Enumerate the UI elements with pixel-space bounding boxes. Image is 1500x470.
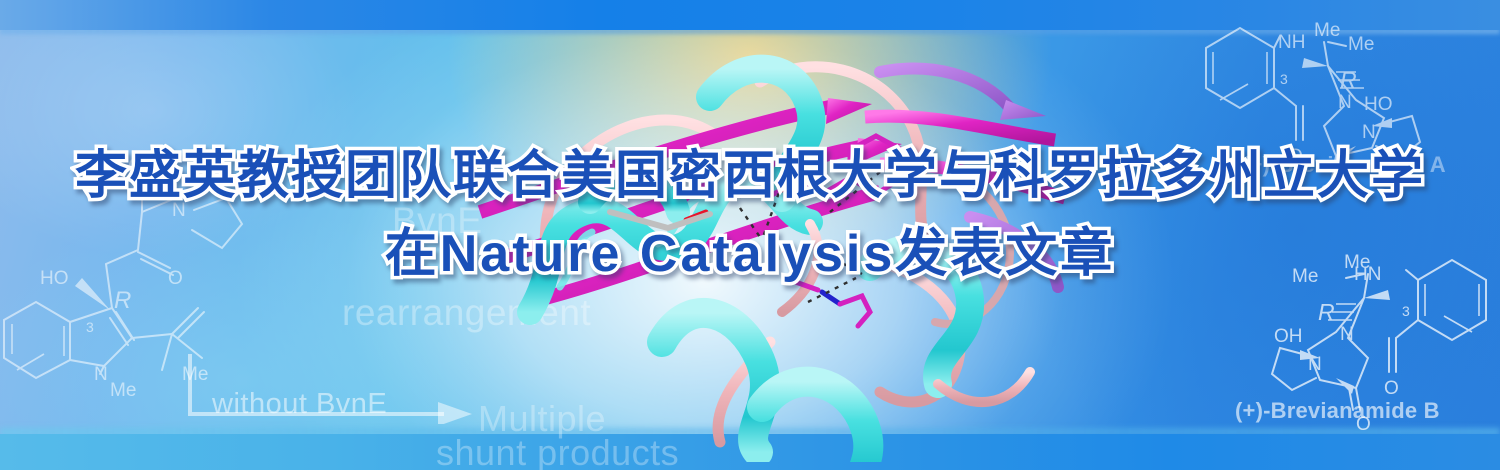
banner-title: 李盛英教授团队联合美国密西根大学与科罗拉多州立大学 在Nature Cataly… xyxy=(0,150,1500,280)
news-banner: BvnE rearrangement without BvnE Multiple… xyxy=(0,0,1500,470)
page-title-line-1: 李盛英教授团队联合美国密西根大学与科罗拉多州立大学 xyxy=(0,150,1500,202)
caption-brevianamide-b: (+)-Brevianamide B xyxy=(1235,398,1440,424)
page-title-line-2: 在Nature Catalysis发表文章 xyxy=(0,228,1500,280)
